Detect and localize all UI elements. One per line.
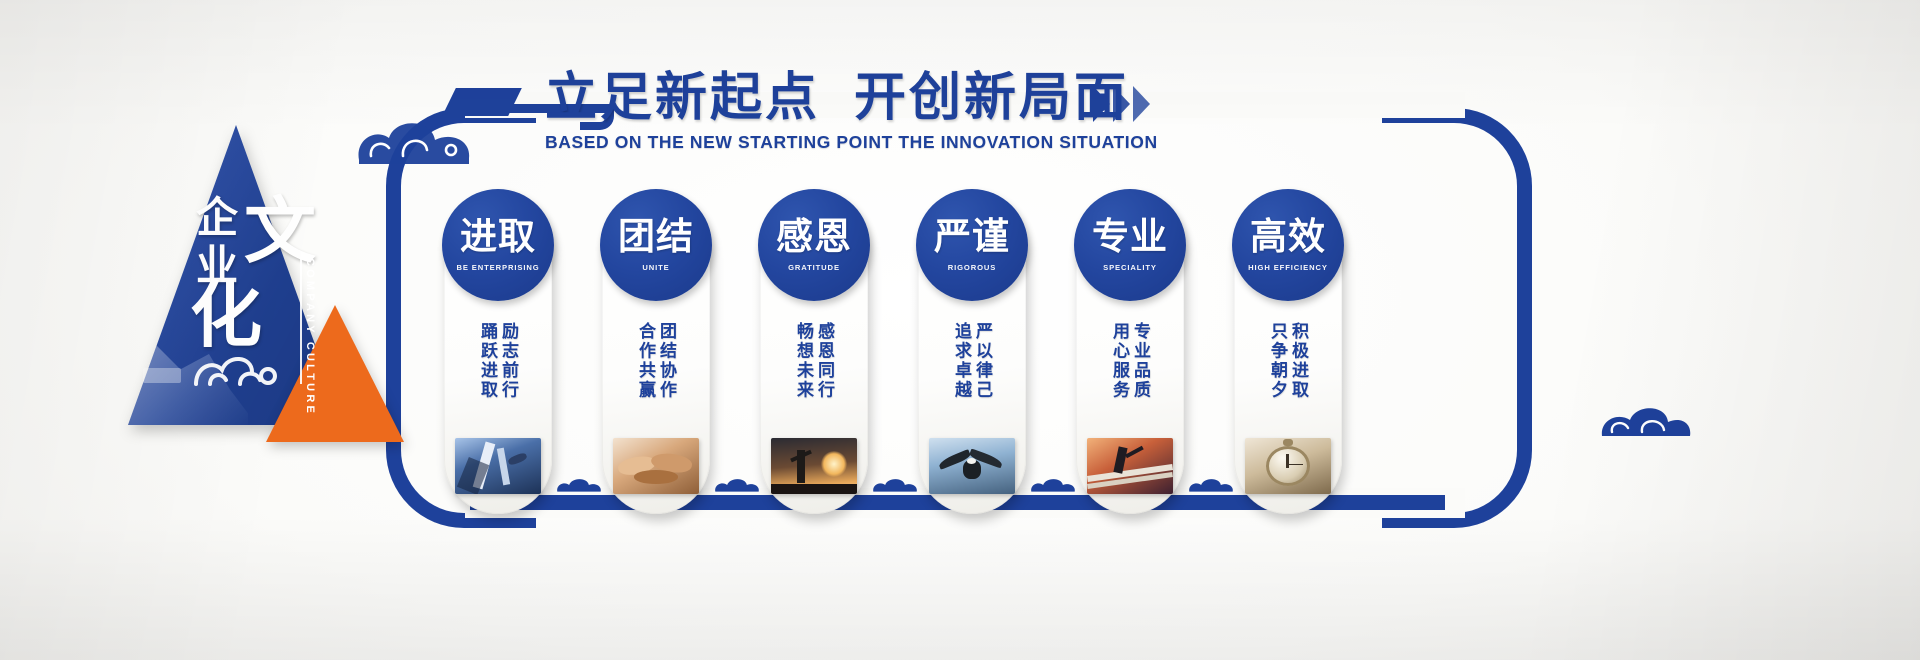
capsule-title-en: HIGH EFFICIENCY xyxy=(1248,263,1328,272)
capsule-circle-badge: 感恩GRATITUDE xyxy=(758,189,870,301)
capsule-circle-badge: 专业SPECIALITY xyxy=(1074,189,1186,301)
divider-cloud-motif-icon xyxy=(1188,474,1234,496)
capsule-vertical-slogan: 团结协作合作共赢 xyxy=(602,322,710,424)
capsule-slogan-column-left: 追求卓越 xyxy=(953,322,970,424)
capsule-circle-badge: 严谨RIGOROUS xyxy=(916,189,1028,301)
capsule-slogan-column-right: 专业品质 xyxy=(1132,322,1149,424)
culture-value-capsule[interactable]: 团结UNITE团结协作合作共赢 xyxy=(602,196,710,514)
capsule-vertical-slogan: 励志前行踊跃进取 xyxy=(444,322,552,424)
runner-track-photo xyxy=(1087,438,1173,494)
capsule-title-cn: 团结 xyxy=(618,219,694,256)
capsule-slogan-column-left: 用心服务 xyxy=(1111,322,1128,424)
capsule-title-en: BE ENTERPRISING xyxy=(456,263,539,272)
capsule-circle-badge: 团结UNITE xyxy=(600,189,712,301)
eagle-photo xyxy=(929,438,1015,494)
capsule-slogan-column-right: 积极进取 xyxy=(1290,322,1307,424)
capsule-vertical-slogan: 严以律己追求卓越 xyxy=(918,322,1026,424)
capsule-title-cn: 高效 xyxy=(1250,219,1326,256)
culture-value-capsule[interactable]: 高效HIGH EFFICIENCY积极进取只争朝夕 xyxy=(1234,196,1342,514)
divider-cloud-motif-icon xyxy=(714,474,760,496)
capsule-slogan-column-right: 严以律己 xyxy=(974,322,991,424)
culture-value-capsule[interactable]: 严谨RIGOROUS严以律己追求卓越 xyxy=(918,196,1026,514)
divider-cloud-motif-icon xyxy=(556,474,602,496)
handshake-photo xyxy=(613,438,699,494)
culture-value-capsule[interactable]: 进取BE ENTERPRISING励志前行踊跃进取 xyxy=(444,196,552,514)
sunrise-figure-photo xyxy=(771,438,857,494)
capsule-circle-badge: 高效HIGH EFFICIENCY xyxy=(1232,189,1344,301)
culture-wall-scene: 企 业 文 化 COMPANY CULTURE 立足新起点开创新局面 BASED… xyxy=(0,0,1920,660)
capsule-vertical-slogan: 积极进取只争朝夕 xyxy=(1234,322,1342,424)
divider-cloud-motif-icon xyxy=(1030,474,1076,496)
capsule-title-en: GRATITUDE xyxy=(788,263,840,272)
capsule-title-cn: 感恩 xyxy=(776,219,852,256)
capsule-slogan-column-right: 团结协作 xyxy=(658,322,675,424)
capsule-slogan-column-right: 励志前行 xyxy=(500,322,517,424)
capsule-title-en: RIGOROUS xyxy=(948,263,997,272)
divider-cloud-motif-icon xyxy=(872,474,918,496)
capsule-title-cn: 严谨 xyxy=(934,219,1010,256)
stopwatch-photo xyxy=(1245,438,1331,494)
capsule-slogan-column-left: 踊跃进取 xyxy=(479,322,496,424)
capsule-title-en: UNITE xyxy=(642,263,669,272)
capsule-title-en: SPECIALITY xyxy=(1103,263,1157,272)
capsule-slogan-column-right: 感恩同行 xyxy=(816,322,833,424)
capsule-slogan-column-left: 合作共赢 xyxy=(637,322,654,424)
capsule-vertical-slogan: 专业品质用心服务 xyxy=(1076,322,1184,424)
capsule-title-cn: 进取 xyxy=(460,219,536,256)
capsule-title-cn: 专业 xyxy=(1092,219,1168,256)
capsule-row: 进取BE ENTERPRISING励志前行踊跃进取团结UNITE团结协作合作共赢… xyxy=(0,0,1920,660)
capsule-vertical-slogan: 感恩同行畅想未来 xyxy=(760,322,868,424)
climbing-photo xyxy=(455,438,541,494)
culture-value-capsule[interactable]: 专业SPECIALITY专业品质用心服务 xyxy=(1076,196,1184,514)
capsule-circle-badge: 进取BE ENTERPRISING xyxy=(442,189,554,301)
capsule-slogan-column-left: 畅想未来 xyxy=(795,322,812,424)
culture-value-capsule[interactable]: 感恩GRATITUDE感恩同行畅想未来 xyxy=(760,196,868,514)
capsule-slogan-column-left: 只争朝夕 xyxy=(1269,322,1286,424)
